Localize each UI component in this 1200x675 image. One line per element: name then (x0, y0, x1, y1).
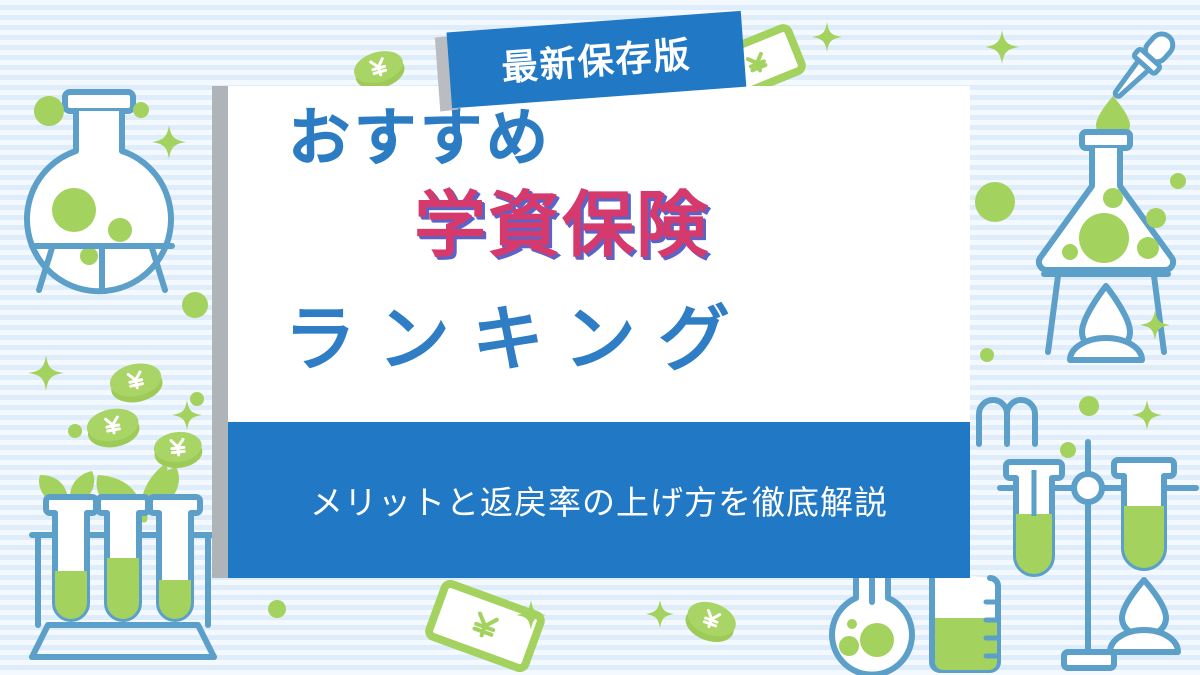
subtitle-text: メリットと返戻率の上げ方を徹底解説 (310, 476, 888, 524)
subtitle-band: メリットと返戻率の上げ方を徹底解説 (228, 422, 970, 578)
thumbnail-canvas: おすすめ 学資保険 ランキング メリットと返戻率の上げ方を徹底解説 最新保存版 (0, 0, 1200, 675)
badge-label: 最新保存版 (500, 26, 693, 92)
page-title-line3: ランキング (284, 304, 752, 376)
title-card: おすすめ 学資保険 ランキング メリットと返戻率の上げ方を徹底解説 (228, 86, 970, 578)
page-title-line1: おすすめ (288, 108, 552, 170)
page-title-line2-highlight: 学資保険 (414, 190, 710, 262)
